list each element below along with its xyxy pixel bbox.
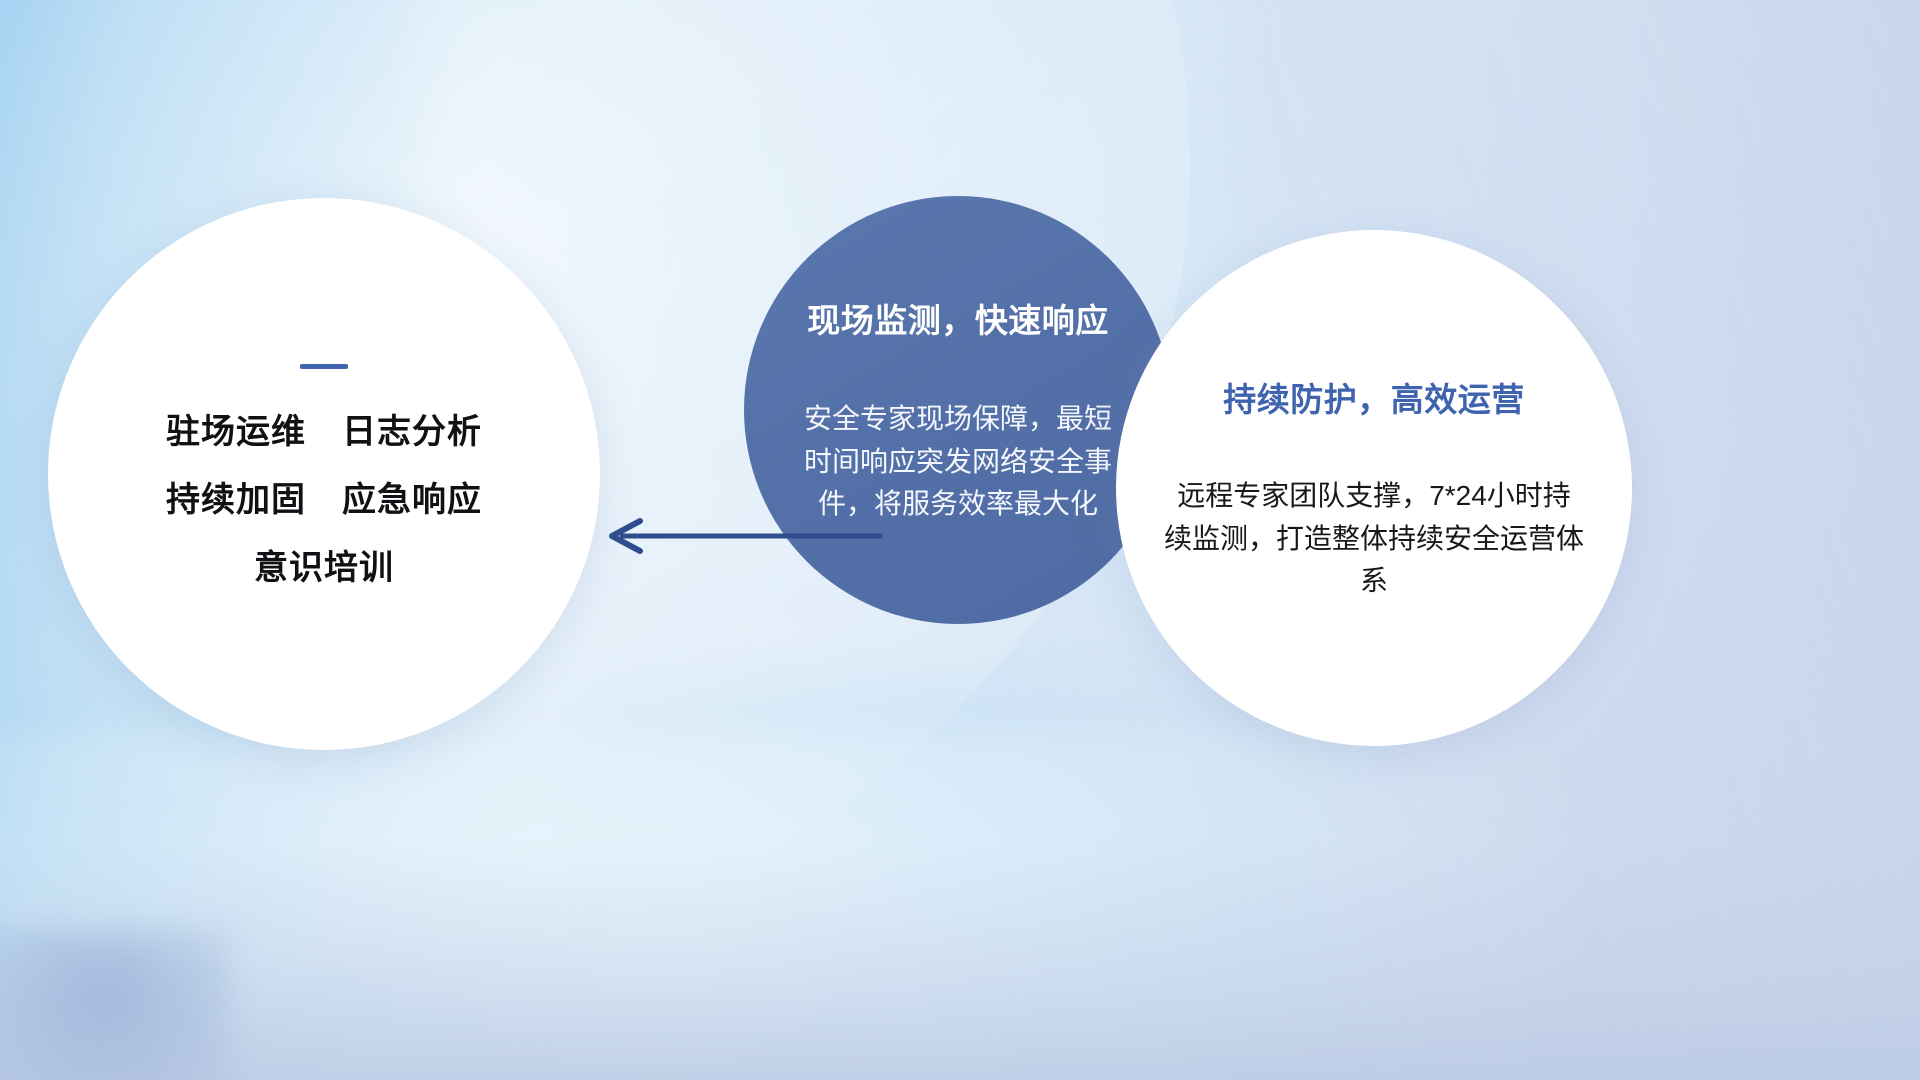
keyword-row: 意识培训 <box>254 551 394 585</box>
keyword-item: 日志分析 <box>342 415 482 449</box>
capability-circle-left[interactable]: 驻场运维 日志分析 持续加固 应急响应 意识培训 <box>48 198 600 750</box>
keyword-item: 意识培训 <box>254 551 394 585</box>
keyword-row: 驻场运维 日志分析 <box>166 415 482 449</box>
keyword-item: 应急响应 <box>342 483 482 517</box>
arrow-left-icon <box>604 515 884 557</box>
circle-body-text: 远程专家团队支撑，7*24小时持续监测，打造整体持续安全运营体系 <box>1164 475 1584 603</box>
keyword-row: 持续加固 应急响应 <box>166 483 482 517</box>
circle-heading: 现场监测，快速响应 <box>807 294 1109 342</box>
circle-heading: 持续防护，高效运营 <box>1223 373 1525 421</box>
keyword-item: 驻场运维 <box>166 415 306 449</box>
divider-dash <box>300 364 348 369</box>
keyword-item: 持续加固 <box>166 483 306 517</box>
circle-body-text: 安全专家现场保障，最短时间响应突发网络安全事件，将服务效率最大化 <box>798 398 1118 526</box>
diagram-stage: 驻场运维 日志分析 持续加固 应急响应 意识培训 现场监测，快速响应 安全专家现… <box>0 0 1920 1080</box>
service-circle-onsite[interactable]: 现场监测，快速响应 安全专家现场保障，最短时间响应突发网络安全事件，将服务效率最… <box>744 196 1172 624</box>
service-circle-remote[interactable]: 持续防护，高效运营 远程专家团队支撑，7*24小时持续监测，打造整体持续安全运营… <box>1116 230 1632 746</box>
